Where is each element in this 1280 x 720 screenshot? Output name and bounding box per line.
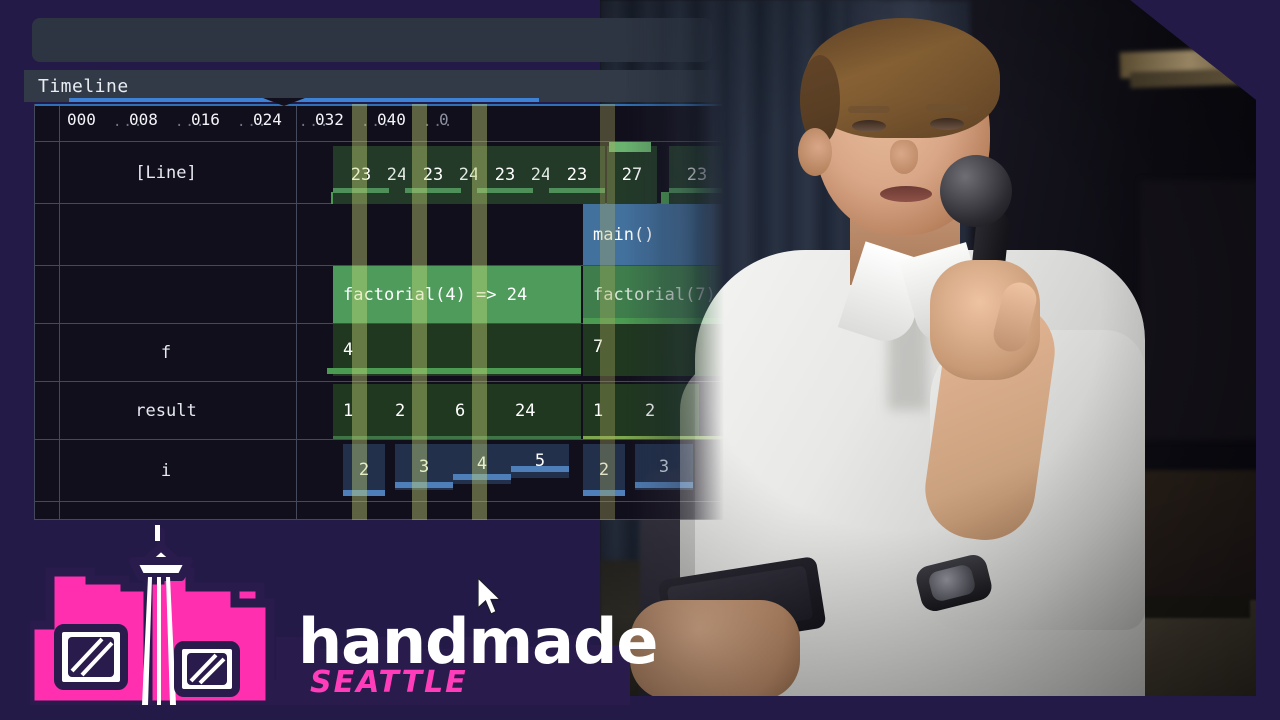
- table-row-var-f[interactable]: f 4 7: [35, 324, 725, 382]
- table-row-var-i[interactable]: i 2 3 4 5 2 3: [35, 440, 725, 502]
- line-cell[interactable]: 23: [549, 146, 605, 204]
- variable-underline: [511, 466, 569, 472]
- line-cell[interactable]: 24: [461, 146, 477, 204]
- line-underline: [333, 188, 389, 193]
- table-row-ruler: 000 ... 008 ... 016 ... 024 ... 032 ... …: [35, 104, 725, 142]
- variable-value[interactable]: 1: [583, 384, 635, 438]
- line-track[interactable]: 23 24 23 24 23 24 23 27 23 24 23 24 23: [297, 142, 725, 203]
- row-label-f: f: [35, 324, 297, 381]
- variable-underline: [583, 436, 737, 439]
- variable-value[interactable]: 24: [505, 384, 581, 438]
- ruler-tick-5: 040: [377, 110, 406, 129]
- variable-track-result[interactable]: 1 2 6 24 1 2: [297, 382, 725, 439]
- logo-subtitle: SEATTLE: [310, 665, 468, 700]
- variable-underline: [333, 436, 581, 439]
- stack-frame-main[interactable]: main(): [583, 204, 737, 265]
- line-cell[interactable]: 24: [533, 146, 549, 204]
- page-title: Timeline: [24, 76, 129, 97]
- stack-frame-returned[interactable]: factorial(4) => 24: [333, 266, 581, 323]
- variable-track-i[interactable]: 2 3 4 5 2 3: [297, 440, 725, 501]
- line-cell[interactable]: 23: [669, 146, 725, 204]
- timeline-grid[interactable]: 000 ... 008 ... 016 ... 024 ... 032 ... …: [34, 104, 724, 520]
- variable-value[interactable]: 1: [333, 384, 385, 438]
- row-label-i: i: [35, 440, 297, 501]
- row-label-line: [Line]: [35, 142, 297, 203]
- variable-value[interactable]: 2: [385, 384, 445, 438]
- toolbar-panel[interactable]: [32, 18, 712, 62]
- table-row-line[interactable]: [Line] 23 24 23 24 23 24 23 27 23 24 23: [35, 142, 725, 204]
- variable-value[interactable]: 2: [343, 444, 385, 496]
- ruler-tick-6: 0: [439, 110, 449, 129]
- ruler-tick-1: 008: [129, 110, 158, 129]
- ruler-tick-3: 024: [253, 110, 282, 129]
- variable-value[interactable]: 6: [445, 384, 505, 438]
- ruler-tick-0: 000: [67, 110, 96, 129]
- timeline-scrollbar[interactable]: [69, 98, 539, 102]
- timeline-scroll-track[interactable]: [35, 104, 735, 106]
- line-underline: [405, 188, 461, 193]
- variable-underline: [453, 474, 511, 480]
- table-row-var-result[interactable]: result 1 2 6 24 1 2: [35, 382, 725, 440]
- variable-value[interactable]: 2: [583, 444, 625, 496]
- variable-value[interactable]: 2: [635, 384, 699, 438]
- line-cell[interactable]: 23: [477, 146, 533, 204]
- ruler-tick-2: 016: [191, 110, 220, 129]
- row-label: [35, 204, 297, 265]
- variable-value[interactable]: 5: [511, 444, 569, 478]
- time-ruler[interactable]: 000 ... 008 ... 016 ... 024 ... 032 ... …: [35, 104, 725, 141]
- variable-topline: [583, 318, 737, 324]
- line-underline: [477, 188, 533, 193]
- line-cell[interactable]: 23: [405, 146, 461, 204]
- row-label-result: result: [35, 382, 297, 439]
- table-row-callstack-fn[interactable]: factorial(4) => 24 factorial(7): [35, 266, 725, 324]
- variable-underline: [583, 490, 625, 496]
- line-cell[interactable]: 23: [333, 146, 389, 204]
- handmade-seattle-logo: handmade SEATTLE: [30, 525, 630, 705]
- timeline-overlay: Timeline 000 ... 008 ... 016 ... 02: [24, 18, 724, 520]
- line-current-marker: [609, 142, 651, 152]
- row-label: [35, 266, 297, 323]
- variable-underline: [635, 482, 693, 488]
- variable-underline: [343, 490, 385, 496]
- ruler-tick-4: 032: [315, 110, 344, 129]
- variable-underline: [395, 482, 453, 488]
- callstack-track-0[interactable]: main(): [297, 204, 725, 265]
- variable-value[interactable]: 7: [583, 318, 737, 376]
- variable-underline: [327, 368, 581, 374]
- line-cell[interactable]: 27: [607, 146, 657, 204]
- variable-track-f[interactable]: 4 7: [297, 324, 725, 381]
- line-underline: [549, 188, 605, 193]
- screen: Timeline 000 ... 008 ... 016 ... 02: [0, 0, 1280, 720]
- stack-frame-running[interactable]: factorial(7): [583, 266, 737, 323]
- callstack-track-1[interactable]: factorial(4) => 24 factorial(7): [297, 266, 725, 323]
- line-underline: [669, 188, 725, 193]
- line-cell[interactable]: 24: [389, 146, 405, 204]
- table-row-callstack-main[interactable]: main(): [35, 204, 725, 266]
